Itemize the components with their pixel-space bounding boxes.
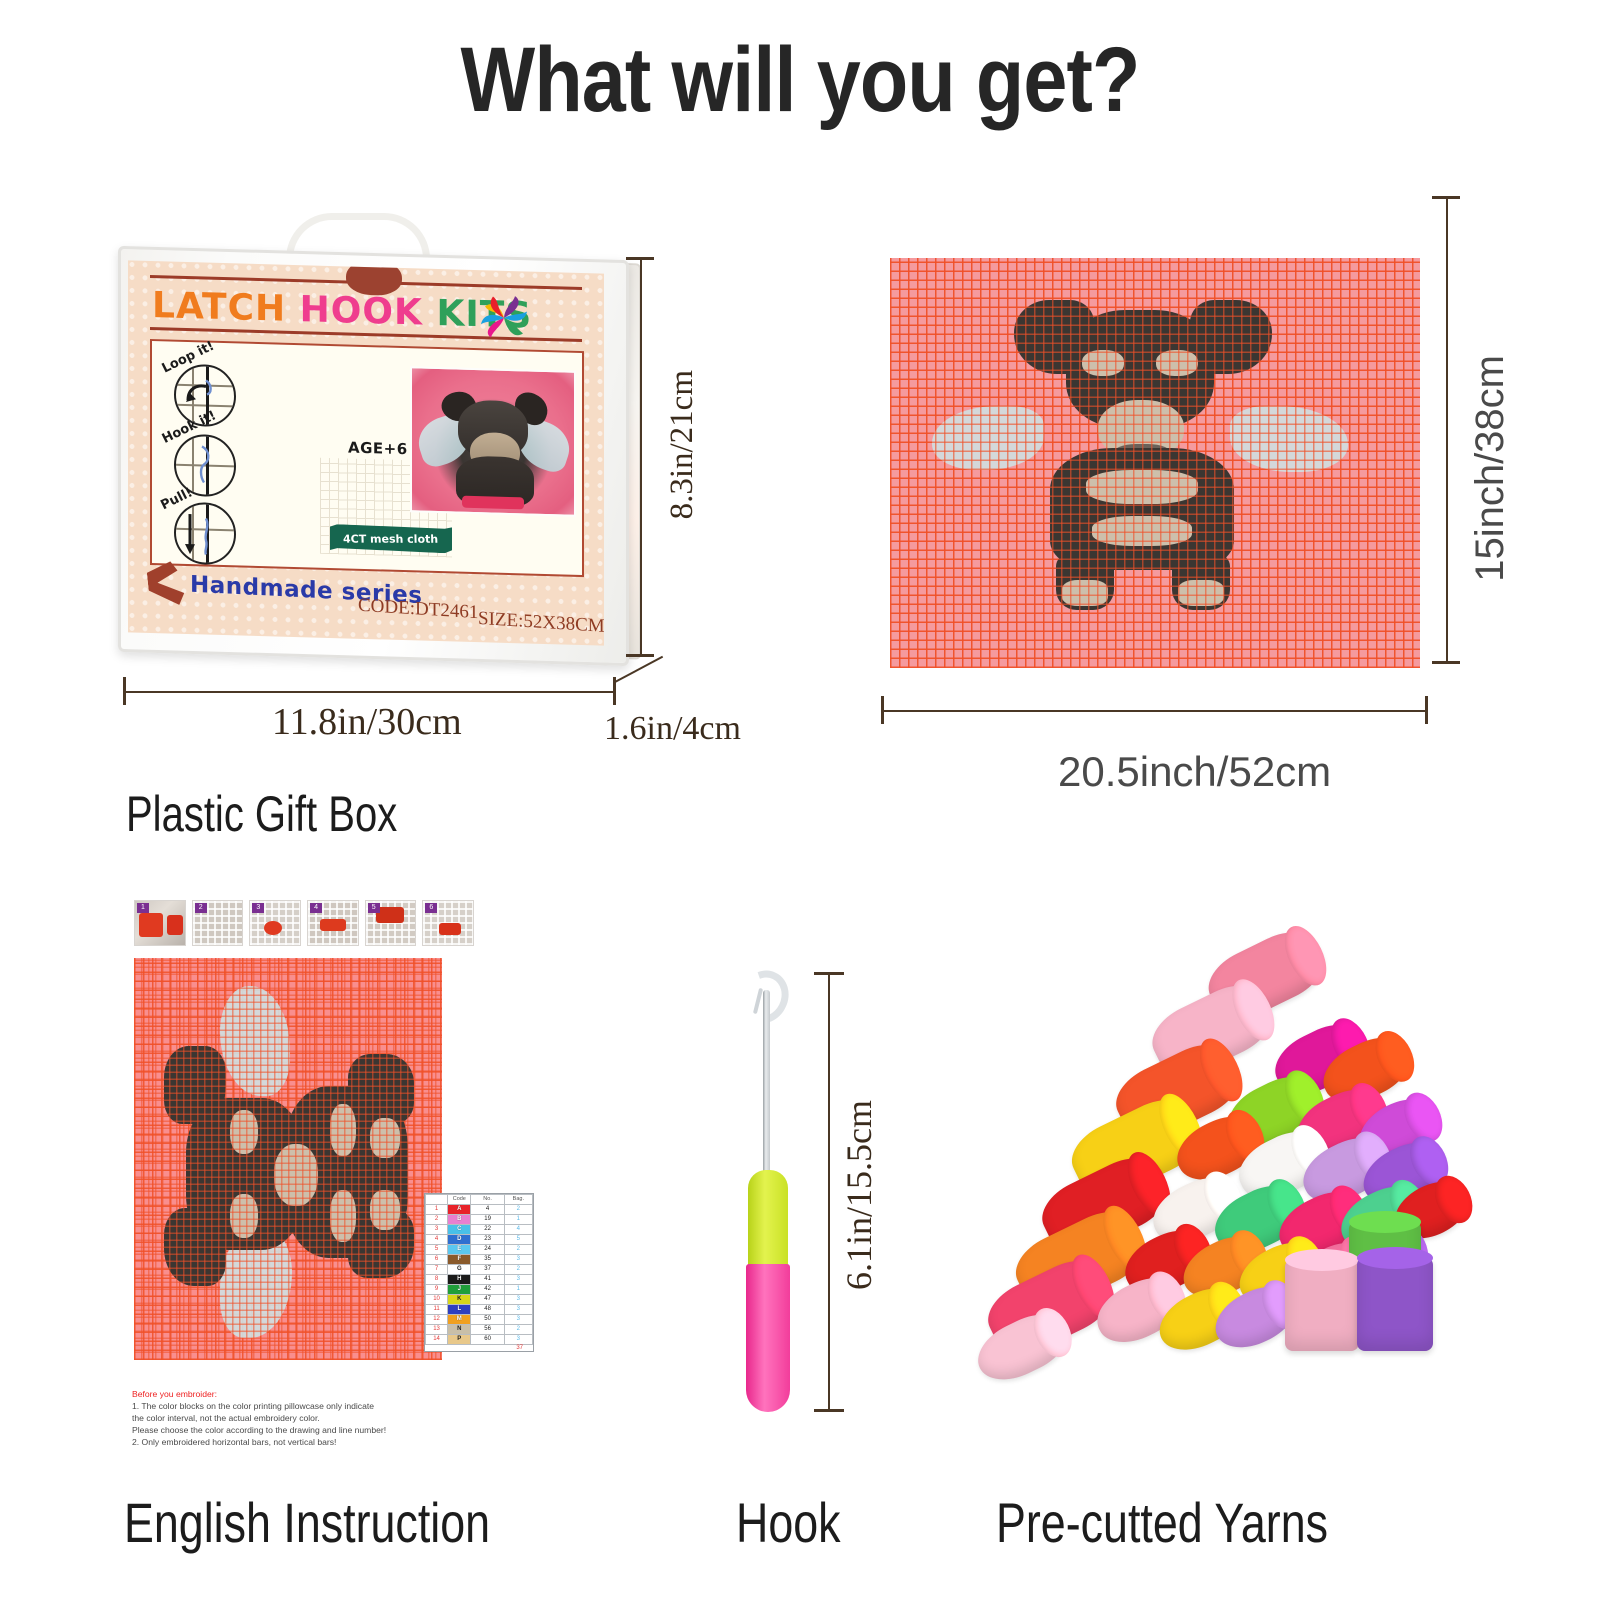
product-preview-photo [410,366,576,517]
legend-color-swatch: N [448,1325,470,1334]
legend-row: 3C224 [426,1225,533,1235]
legend-number: 50 [471,1315,504,1325]
gift-box-figure: LATCH HOOK KITS Loop it! [118,205,638,670]
step-diagram-pull [174,502,236,566]
legend-number: 42 [471,1285,504,1295]
legend-index: 2 [426,1215,448,1225]
brand-word-latch: LATCH [152,285,286,330]
thumbnail-4: 4 [307,900,359,946]
legend-color-swatch: E [448,1245,470,1254]
legend-number: 48 [471,1305,504,1315]
legend-row: 14P603 [426,1335,533,1345]
scissors-icon [146,560,194,607]
page-title: What will you get? [112,28,1488,133]
legend-code: E [448,1245,471,1255]
notes-line-2: the color interval, not the actual embro… [132,1412,432,1424]
legend-index: 10 [426,1295,448,1305]
yarns-caption: Pre-cutted Yarns [996,1490,1328,1555]
legend-bag: 2 [504,1245,532,1255]
thumbnail-3: 3 [249,900,301,946]
box-width-tick-left [123,677,126,705]
legend-code: B [448,1215,471,1225]
printed-canvas-figure [890,258,1420,668]
legend-number: 37 [471,1265,504,1275]
instruction-notes: Before you embroider: 1. The color block… [132,1388,432,1448]
box-height-line [640,257,642,657]
legend-number: 41 [471,1275,504,1285]
canvas-width-tick-left [881,696,884,724]
thumbnail-number-2: 2 [195,903,207,913]
legend-number: 4 [471,1205,504,1215]
hook-handle-upper [748,1170,788,1268]
hook-caption: Hook [736,1490,841,1555]
product-code: CODE:DT2461 [358,595,478,625]
yarn-bundle [1357,1257,1433,1351]
legend-row: 4D235 [426,1235,533,1245]
legend-number: 22 [471,1225,504,1235]
legend-th-no: No. [471,1195,504,1205]
legend-code: N [448,1325,471,1335]
legend-row: 12M503 [426,1315,533,1325]
notes-line-1: 1. The color blocks on the color printin… [132,1400,432,1412]
legend-index: 3 [426,1225,448,1235]
legend-code: M [448,1315,471,1325]
instruction-sheet-figure: 1 2 3 4 5 [126,900,526,1470]
legend-th-bag: Bag. [504,1195,532,1205]
legend-index: 1 [426,1205,448,1215]
thumbnail-1: 1 [134,900,186,946]
box-height-dimension: 8.3in/21cm [664,370,701,519]
legend-bag: 4 [504,1225,532,1235]
notes-heading: Before you embroider: [132,1388,432,1400]
box-depth-dimension: 1.6in/4cm [604,710,741,748]
legend-code: J [448,1285,471,1295]
box-width-line [124,691,616,693]
legend-index: 7 [426,1265,448,1275]
instruction-panel: Loop it! Hook it! [150,339,584,577]
legend-row: 10K473 [426,1295,533,1305]
pinwheel-logo-icon [473,286,535,350]
hook-handle-lower [746,1264,790,1412]
product-size: SIZE:52X38CM [478,608,604,638]
legend-number: 56 [471,1325,504,1335]
legend-number: 24 [471,1245,504,1255]
canvas-width-line [882,710,1428,712]
hook-tick-top [814,972,844,975]
pattern-chart [134,958,442,1360]
legend-color-swatch: F [448,1255,470,1264]
mesh-ribbon-label: 4CT mesh cloth [343,532,438,545]
instruction-caption: English Instruction [124,1490,490,1555]
legend-bag: 1 [504,1285,532,1295]
legend-bag: 5 [504,1235,532,1245]
hook-tick-bot [814,1409,844,1412]
box-height-tick-top [626,257,654,260]
thumbnail-5: 5 [365,900,417,946]
legend-color-swatch: B [448,1215,470,1224]
yarn-pile-figure [955,935,1485,1405]
legend-bag: 3 [504,1255,532,1265]
legend-bag: 2 [504,1205,532,1215]
gift-box-caption: Plastic Gift Box [126,785,397,843]
legend-index: 8 [426,1275,448,1285]
legend-color-swatch: L [448,1305,470,1314]
legend-row: 7G372 [426,1265,533,1275]
legend-number: 60 [471,1335,504,1345]
legend-color-swatch: K [448,1295,470,1304]
legend-color-swatch: P [448,1335,470,1344]
thumbnail-number-5: 5 [368,903,380,913]
legend-bag: 3 [504,1305,532,1315]
legend-th-idx [426,1195,448,1205]
legend-number: 19 [471,1215,504,1225]
legend-color-swatch: C [448,1225,470,1234]
thumbnail-number-4: 4 [310,903,322,913]
legend-row: 9J421 [426,1285,533,1295]
legend-th-code: Code [448,1195,471,1205]
legend-index: 4 [426,1235,448,1245]
legend-total: 37 [425,1345,533,1351]
thumbnail-6: 6 [422,900,474,946]
legend-code: L [448,1305,471,1315]
notes-line-3: Please choose the color according to the… [132,1424,432,1436]
legend-code: K [448,1295,471,1305]
legend-row: 11L483 [426,1305,533,1315]
canvas-height-tick-bot [1432,661,1460,664]
canvas-height-line [1446,196,1448,664]
legend-color-swatch: H [448,1275,470,1284]
legend-row: 8H413 [426,1275,533,1285]
legend-row: 5E242 [426,1245,533,1255]
notes-line-4: 2. Only embroidered horizontal bars, not… [132,1436,432,1448]
legend-color-swatch: G [448,1265,470,1274]
legend-bag: 3 [504,1275,532,1285]
legend-number: 35 [471,1255,504,1265]
step-thumbnail-strip: 1 2 3 4 5 [134,900,474,952]
legend-bag: 3 [504,1295,532,1305]
legend-row: 13N562 [426,1325,533,1335]
canvas-dog-artwork [890,258,1420,668]
legend-number: 47 [471,1295,504,1305]
legend-number: 23 [471,1235,504,1245]
legend-index: 13 [426,1325,448,1335]
thumbnail-2: 2 [192,900,244,946]
legend-index: 9 [426,1285,448,1295]
hook-dimension-label: 6.1in/15.5cm [838,1100,880,1290]
legend-color-swatch: A [448,1205,470,1214]
thumbnail-number-6: 6 [425,903,437,913]
brand-word-hook: HOOK [300,289,423,333]
box-height-tick-bot [626,654,654,657]
legend-color-swatch: M [448,1315,470,1324]
color-legend-table: Code No. Bag. 1A422B1913C2244D2355E2426F… [424,1193,534,1352]
box-front-label: LATCH HOOK KITS Loop it! [128,260,604,645]
legend-index: 11 [426,1305,448,1315]
legend-code: P [448,1335,471,1345]
legend-index: 14 [426,1335,448,1345]
legend-code: H [448,1275,471,1285]
legend-code: A [448,1205,471,1215]
thumbnail-number-1: 1 [137,903,149,913]
legend-bag: 2 [504,1265,532,1275]
legend-index: 12 [426,1315,448,1325]
legend-code: G [448,1265,471,1275]
legend-bag: 2 [504,1325,532,1335]
legend-color-swatch: J [448,1285,470,1294]
canvas-width-dimension: 20.5inch/52cm [1058,748,1331,796]
legend-row: 2B191 [426,1215,533,1225]
legend-code: D [448,1235,471,1245]
legend-index: 5 [426,1245,448,1255]
hook-dimension-line [828,972,830,1412]
legend-color-swatch: D [448,1235,470,1244]
canvas-height-dimension: 15inch/38cm [1468,355,1513,582]
legend-bag: 1 [504,1215,532,1225]
canvas-height-tick-top [1432,196,1460,199]
legend-index: 6 [426,1255,448,1265]
infographic-root: What will you get? LATCH HOOK KITS [0,0,1600,1600]
legend-row: 6F353 [426,1255,533,1265]
thumbnail-number-3: 3 [252,903,264,913]
legend-row: 1A42 [426,1205,533,1215]
box-width-dimension: 11.8in/30cm [272,700,462,744]
legend-bag: 3 [504,1335,532,1345]
pattern-chart-artwork [134,958,442,1360]
canvas-width-tick-right [1425,696,1428,724]
yarn-bundle [1285,1259,1359,1351]
legend-code: C [448,1225,471,1235]
legend-header-row: Code No. Bag. [426,1195,533,1205]
legend-bag: 3 [504,1315,532,1325]
legend-code: F [448,1255,471,1265]
hook-shaft [763,990,770,1175]
